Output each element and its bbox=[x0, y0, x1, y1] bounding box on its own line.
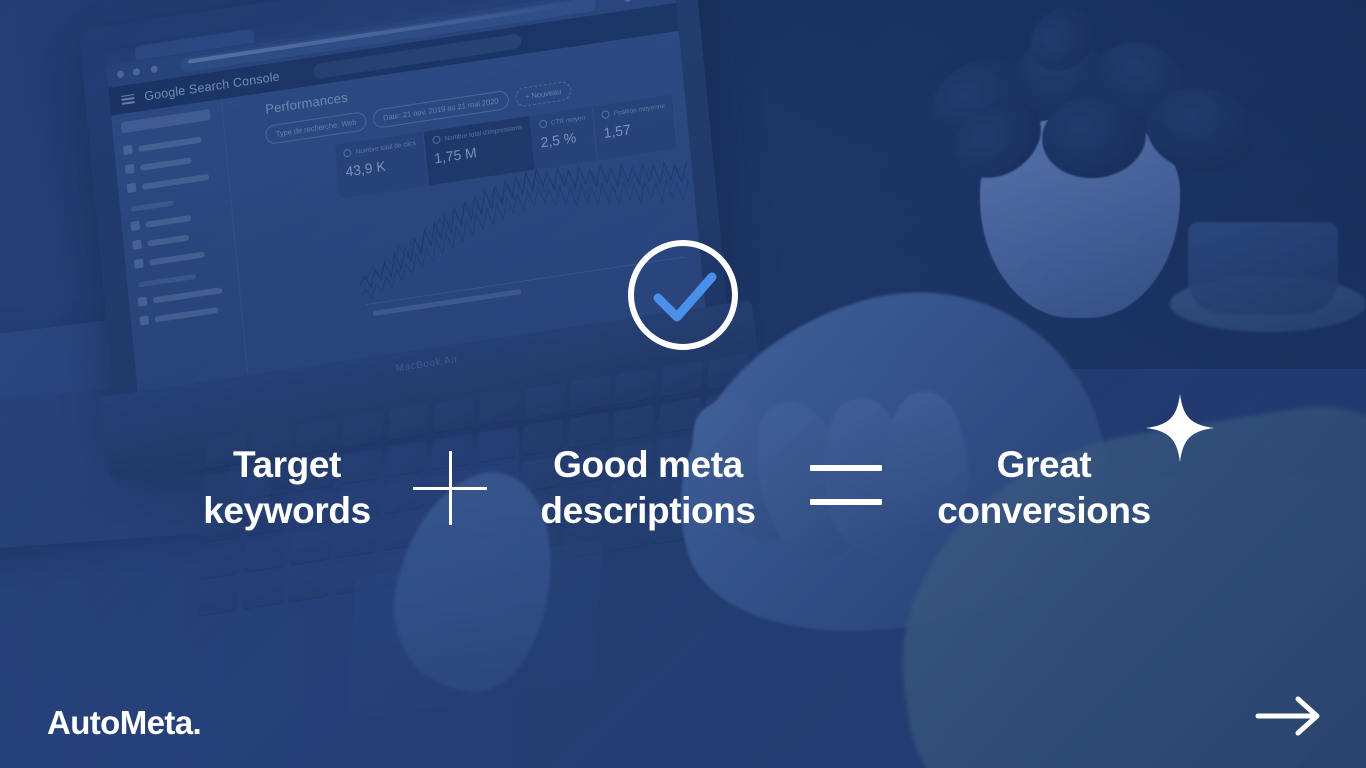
arrow-right-icon[interactable] bbox=[1254, 692, 1326, 740]
poster-canvas: Google Search Console bbox=[0, 0, 1366, 768]
blue-overlay bbox=[0, 0, 1366, 768]
check-circle-icon bbox=[622, 234, 744, 356]
plus-operator bbox=[402, 451, 498, 525]
term-good-meta-descriptions: Good meta descriptions bbox=[498, 442, 798, 534]
brand-wordmark: AutoMeta. bbox=[47, 704, 201, 742]
equals-icon bbox=[810, 465, 882, 511]
term-great-conversions: Great conversions bbox=[894, 442, 1194, 534]
equals-operator bbox=[798, 465, 894, 511]
plus-icon bbox=[413, 451, 487, 525]
term-target-keywords: Target keywords bbox=[172, 442, 402, 534]
background-photo: Google Search Console bbox=[0, 0, 1366, 768]
value-equation: Target keywords Good meta descriptions G… bbox=[0, 442, 1366, 534]
